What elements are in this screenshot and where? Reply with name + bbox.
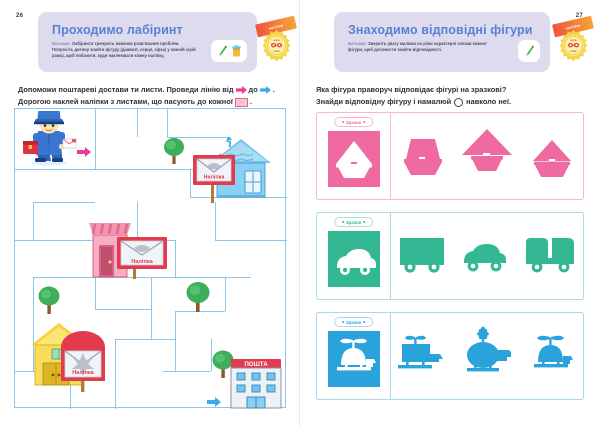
- envelope-icon: [235, 98, 248, 107]
- maze-wall: [215, 240, 287, 241]
- right-instr-2b: навколо неї.: [466, 96, 511, 108]
- sailboat-wide-icon: [395, 129, 449, 183]
- maze-wall: [115, 339, 175, 340]
- post-office-sprite: ПОШТА: [227, 357, 285, 409]
- right-page: 27 Знаходимо відповідні фігури Батькам: …: [300, 0, 600, 426]
- sample-cell: Зразок: [317, 313, 391, 399]
- maze-wall: [95, 169, 170, 170]
- pencil-icon: [524, 44, 535, 58]
- pencil-icon: [217, 44, 228, 58]
- maze-wall: [163, 371, 211, 372]
- glue-stick-icon: [231, 44, 242, 58]
- svg-text:★★★: ★★★: [570, 38, 578, 42]
- left-instr-1a: Допоможи поштареві достави ти листи. Про…: [18, 84, 234, 96]
- helicopter-round-icon: [457, 326, 517, 386]
- sticker-label: Наліпка: [204, 175, 226, 181]
- left-instructions: Допоможи поштареві достави ти листи. Про…: [18, 84, 289, 108]
- maze-grid: Наліпка Наліпка: [14, 108, 286, 408]
- page-number-left: 26: [16, 13, 23, 19]
- right-header-panel: Знаходимо відповідні фігури Батькам: Зве…: [334, 12, 550, 72]
- yellow-house-sprite: Наліпка: [25, 317, 111, 393]
- tree-sprite: [163, 135, 185, 165]
- left-header-panel: Проходимо лабіринт Батькам: Лабіринти тр…: [38, 12, 257, 72]
- exercise-row-helicopter[interactable]: Зразок: [316, 312, 584, 400]
- maze-start-arrow-icon: [77, 147, 91, 157]
- maze-wall: [95, 309, 151, 310]
- car-icon: [457, 230, 515, 282]
- tree-sprite: [37, 283, 61, 315]
- right-note-lead: Батькам:: [348, 41, 367, 46]
- sailboat-tall-icon: [458, 125, 516, 187]
- sailboat-match-icon: [525, 129, 579, 183]
- sample-badge-label: Зразок: [346, 120, 362, 125]
- badge-seal-icon: ★★★ гейм: [260, 29, 293, 62]
- maze-wall: [95, 277, 96, 309]
- helicopter-match-icon: [524, 329, 580, 383]
- right-note-text: Зверніть увагу малюка на різні характерн…: [348, 41, 486, 52]
- helicopter-boxy-icon: [394, 330, 450, 382]
- badge-seal-icon: ★★★ гейм: [557, 29, 590, 62]
- sample-swatch: [326, 228, 382, 290]
- option-1[interactable]: [395, 129, 449, 183]
- maze-wall: [15, 169, 95, 170]
- sticker-label: Наліпка: [131, 259, 153, 265]
- option-1[interactable]: [394, 330, 450, 382]
- sticker-label: Наліпка: [72, 370, 94, 376]
- right-instr-1: Яка фігура праворуч відповідає фігурі на…: [316, 84, 506, 96]
- left-instruction-line-1: Допоможи поштареві достави ти листи. Про…: [18, 84, 289, 96]
- right-instruction-line-1: Яка фігура праворуч відповідає фігурі на…: [316, 84, 590, 96]
- pink-shop-sprite: Наліпка: [87, 213, 171, 279]
- book-spread: 26 Проходимо лабіринт Батькам: Лабіринти…: [0, 0, 600, 426]
- maze-wall: [151, 277, 152, 339]
- option-3[interactable]: [525, 129, 579, 183]
- sample-swatch: [326, 128, 382, 190]
- car-icon: [328, 231, 380, 287]
- maze-wall: [175, 311, 176, 371]
- maze-wall: [175, 240, 176, 277]
- maze-wall: [167, 109, 168, 137]
- truck-icon: [522, 230, 580, 282]
- right-instruction-line-2: Знайди відповідну фігуру і намалюй навко…: [316, 96, 590, 108]
- van-icon: [394, 230, 450, 282]
- option-1[interactable]: [394, 230, 450, 282]
- maze-wall: [33, 202, 95, 203]
- options-cell: [391, 313, 583, 399]
- option-3[interactable]: [524, 329, 580, 383]
- badge-seal-text: гейм: [273, 49, 280, 53]
- sailboat-icon: [328, 131, 380, 187]
- left-note-lead: Батькам:: [52, 41, 71, 46]
- maze-wall: [95, 109, 96, 169]
- right-instructions: Яка фігура праворуч відповідає фігурі на…: [316, 84, 590, 108]
- blue-arrow-icon: [260, 86, 271, 94]
- left-page: 26 Проходимо лабіринт Батькам: Лабіринти…: [0, 0, 300, 426]
- left-instr-2a: Дорогою наклей наліпки з листами, що пас…: [18, 96, 233, 108]
- right-page-title: Знаходимо відповідні фігури: [348, 23, 533, 37]
- maze-end-arrow-icon: [207, 397, 221, 407]
- maze-wall: [137, 109, 138, 137]
- left-page-title: Проходимо лабіринт: [52, 23, 183, 37]
- maze-wall: [115, 339, 116, 409]
- maze-wall: [225, 277, 226, 311]
- badge-seal-text: гейм: [570, 49, 577, 53]
- sample-cell: Зразок: [317, 113, 391, 199]
- option-2[interactable]: [458, 125, 516, 187]
- right-sticker-badge: наліпки ★★★ гейм: [552, 20, 594, 66]
- circle-icon: [454, 98, 463, 107]
- svg-text:★★★: ★★★: [273, 38, 281, 42]
- exercise-row-vehicle[interactable]: Зразок: [316, 212, 584, 300]
- postman-sprite: [19, 111, 79, 167]
- exercise-row-sailboat[interactable]: Зразок: [316, 112, 584, 200]
- sample-badge-label: Зразок: [346, 220, 362, 225]
- left-instruction-line-2: Дорогою наклей наліпки з листами, що пас…: [18, 96, 289, 108]
- left-note-text: Лабіринти тренують навички розв'язання п…: [52, 41, 196, 58]
- option-3[interactable]: [522, 230, 580, 282]
- sample-cell: Зразок: [317, 213, 391, 299]
- right-instr-2a: Знайди відповідну фігуру і намалюй: [316, 96, 451, 108]
- right-parent-note: Батькам: Зверніть увагу малюка на різні …: [348, 41, 492, 53]
- post-office-label: ПОШТА: [244, 361, 268, 368]
- left-instr-1c: .: [273, 84, 275, 96]
- left-tool-chip: [211, 40, 247, 62]
- options-cell: [391, 113, 583, 199]
- tree-sprite: [185, 279, 211, 313]
- maze-wall: [190, 169, 191, 197]
- maze-wall: [215, 202, 216, 240]
- blue-house-sprite: Наліпка: [193, 133, 277, 203]
- right-tool-chip: [518, 40, 540, 62]
- sample-badge: Зразок: [334, 317, 374, 327]
- left-sticker-badge: наліпки ★★★ гейм: [255, 20, 297, 66]
- helicopter-icon: [328, 331, 380, 387]
- left-instr-2b: .: [250, 96, 252, 108]
- left-instr-1b: до: [249, 84, 258, 96]
- sample-badge: Зразок: [334, 217, 374, 227]
- sample-badge-label: Зразок: [346, 320, 362, 325]
- option-2[interactable]: [457, 230, 515, 282]
- left-parent-note: Батькам: Лабіринти тренують навички розв…: [52, 41, 199, 60]
- sample-badge: Зразок: [334, 117, 374, 127]
- sample-swatch: [326, 328, 382, 390]
- options-cell: [391, 213, 583, 299]
- maze-wall: [33, 202, 34, 240]
- magenta-arrow-icon: [236, 86, 247, 94]
- option-2[interactable]: [457, 326, 517, 386]
